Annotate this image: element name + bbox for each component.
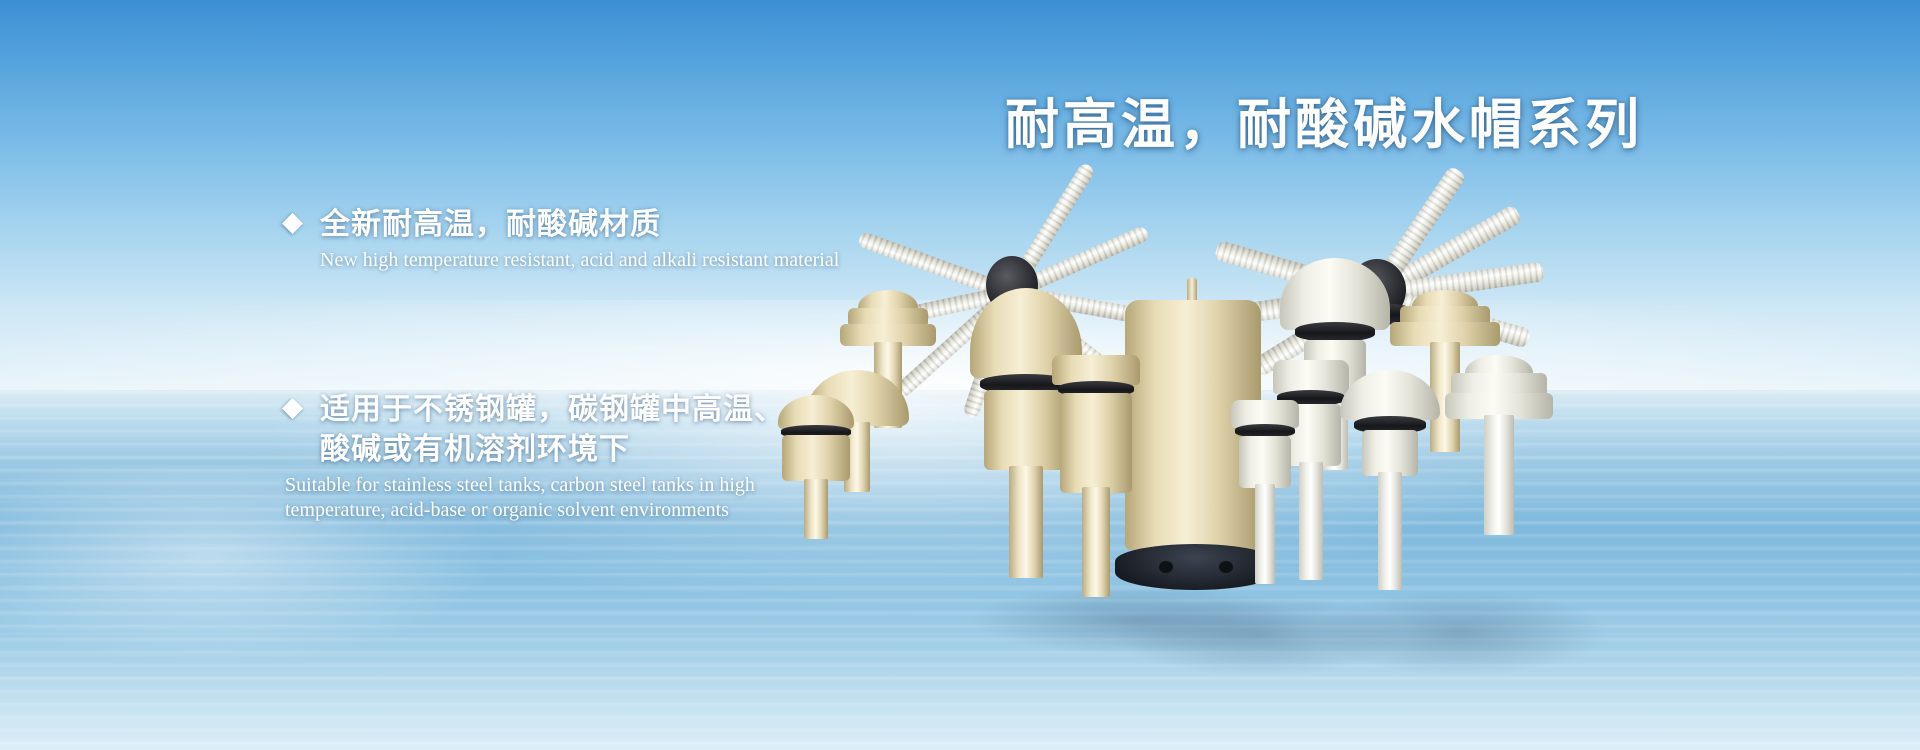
nozzle-stem [1378,472,1402,590]
nozzle-body [1060,393,1132,493]
page-title: 耐高温，耐酸碱水帽系列 [1005,80,1643,159]
diamond-bullet-icon [282,398,303,419]
right-stepped-ivory-nozzle [1445,355,1553,605]
bullet-2-cn-line-2: 酸碱或有机溶剂环境下 [320,430,785,470]
nozzle-cap [1340,370,1440,420]
nozzle-cap [778,395,854,429]
bullet-2-en-line-2: temperature, acid-base or organic solven… [285,498,785,523]
bullet-item-1: 全新耐高温，耐酸碱材质 New high temperature resista… [285,205,839,273]
nozzle-body [1239,436,1291,488]
nozzle-cap [1280,258,1390,330]
nozzle-skirt [1362,430,1418,476]
black-collar-nozzle [1225,400,1305,610]
nozzle-cap [1273,360,1349,394]
ivory-conical-nozzle [1340,370,1440,610]
ridged-barrel-nozzle [1050,355,1142,615]
water-cap-product-cluster [880,170,1890,660]
nozzle-stem [804,479,828,539]
bullet-1-cn-line-1: 全新耐高温，耐酸碱材质 [320,205,661,245]
flange-bolt-hole [1159,561,1173,573]
nozzle-stem [1255,484,1275,584]
bullet-1-en-line-1: New high temperature resistant, acid and… [320,248,839,273]
diamond-bullet-icon [282,213,303,234]
bullet-item-2: 适用于不锈钢罐，碳钢罐中高温、 酸碱或有机溶剂环境下 Suitable for … [285,390,785,523]
bullet-2-cn-line-1: 适用于不锈钢罐，碳钢罐中高温、 [320,390,785,430]
nozzle-stem [1082,487,1110,597]
filter-top-pin [1187,278,1197,302]
nozzle-skirt [782,435,850,481]
nozzle-stem [1009,466,1043,578]
bullet-2-en-line-1: Suitable for stainless steel tanks, carb… [285,473,785,498]
short-disc-nozzle [770,395,862,555]
product-banner: 耐高温，耐酸碱水帽系列 全新耐高温，耐酸碱材质 New high tempera… [0,0,1920,750]
nozzle-gasket [1295,322,1375,342]
nozzle-stem [1484,415,1514,535]
